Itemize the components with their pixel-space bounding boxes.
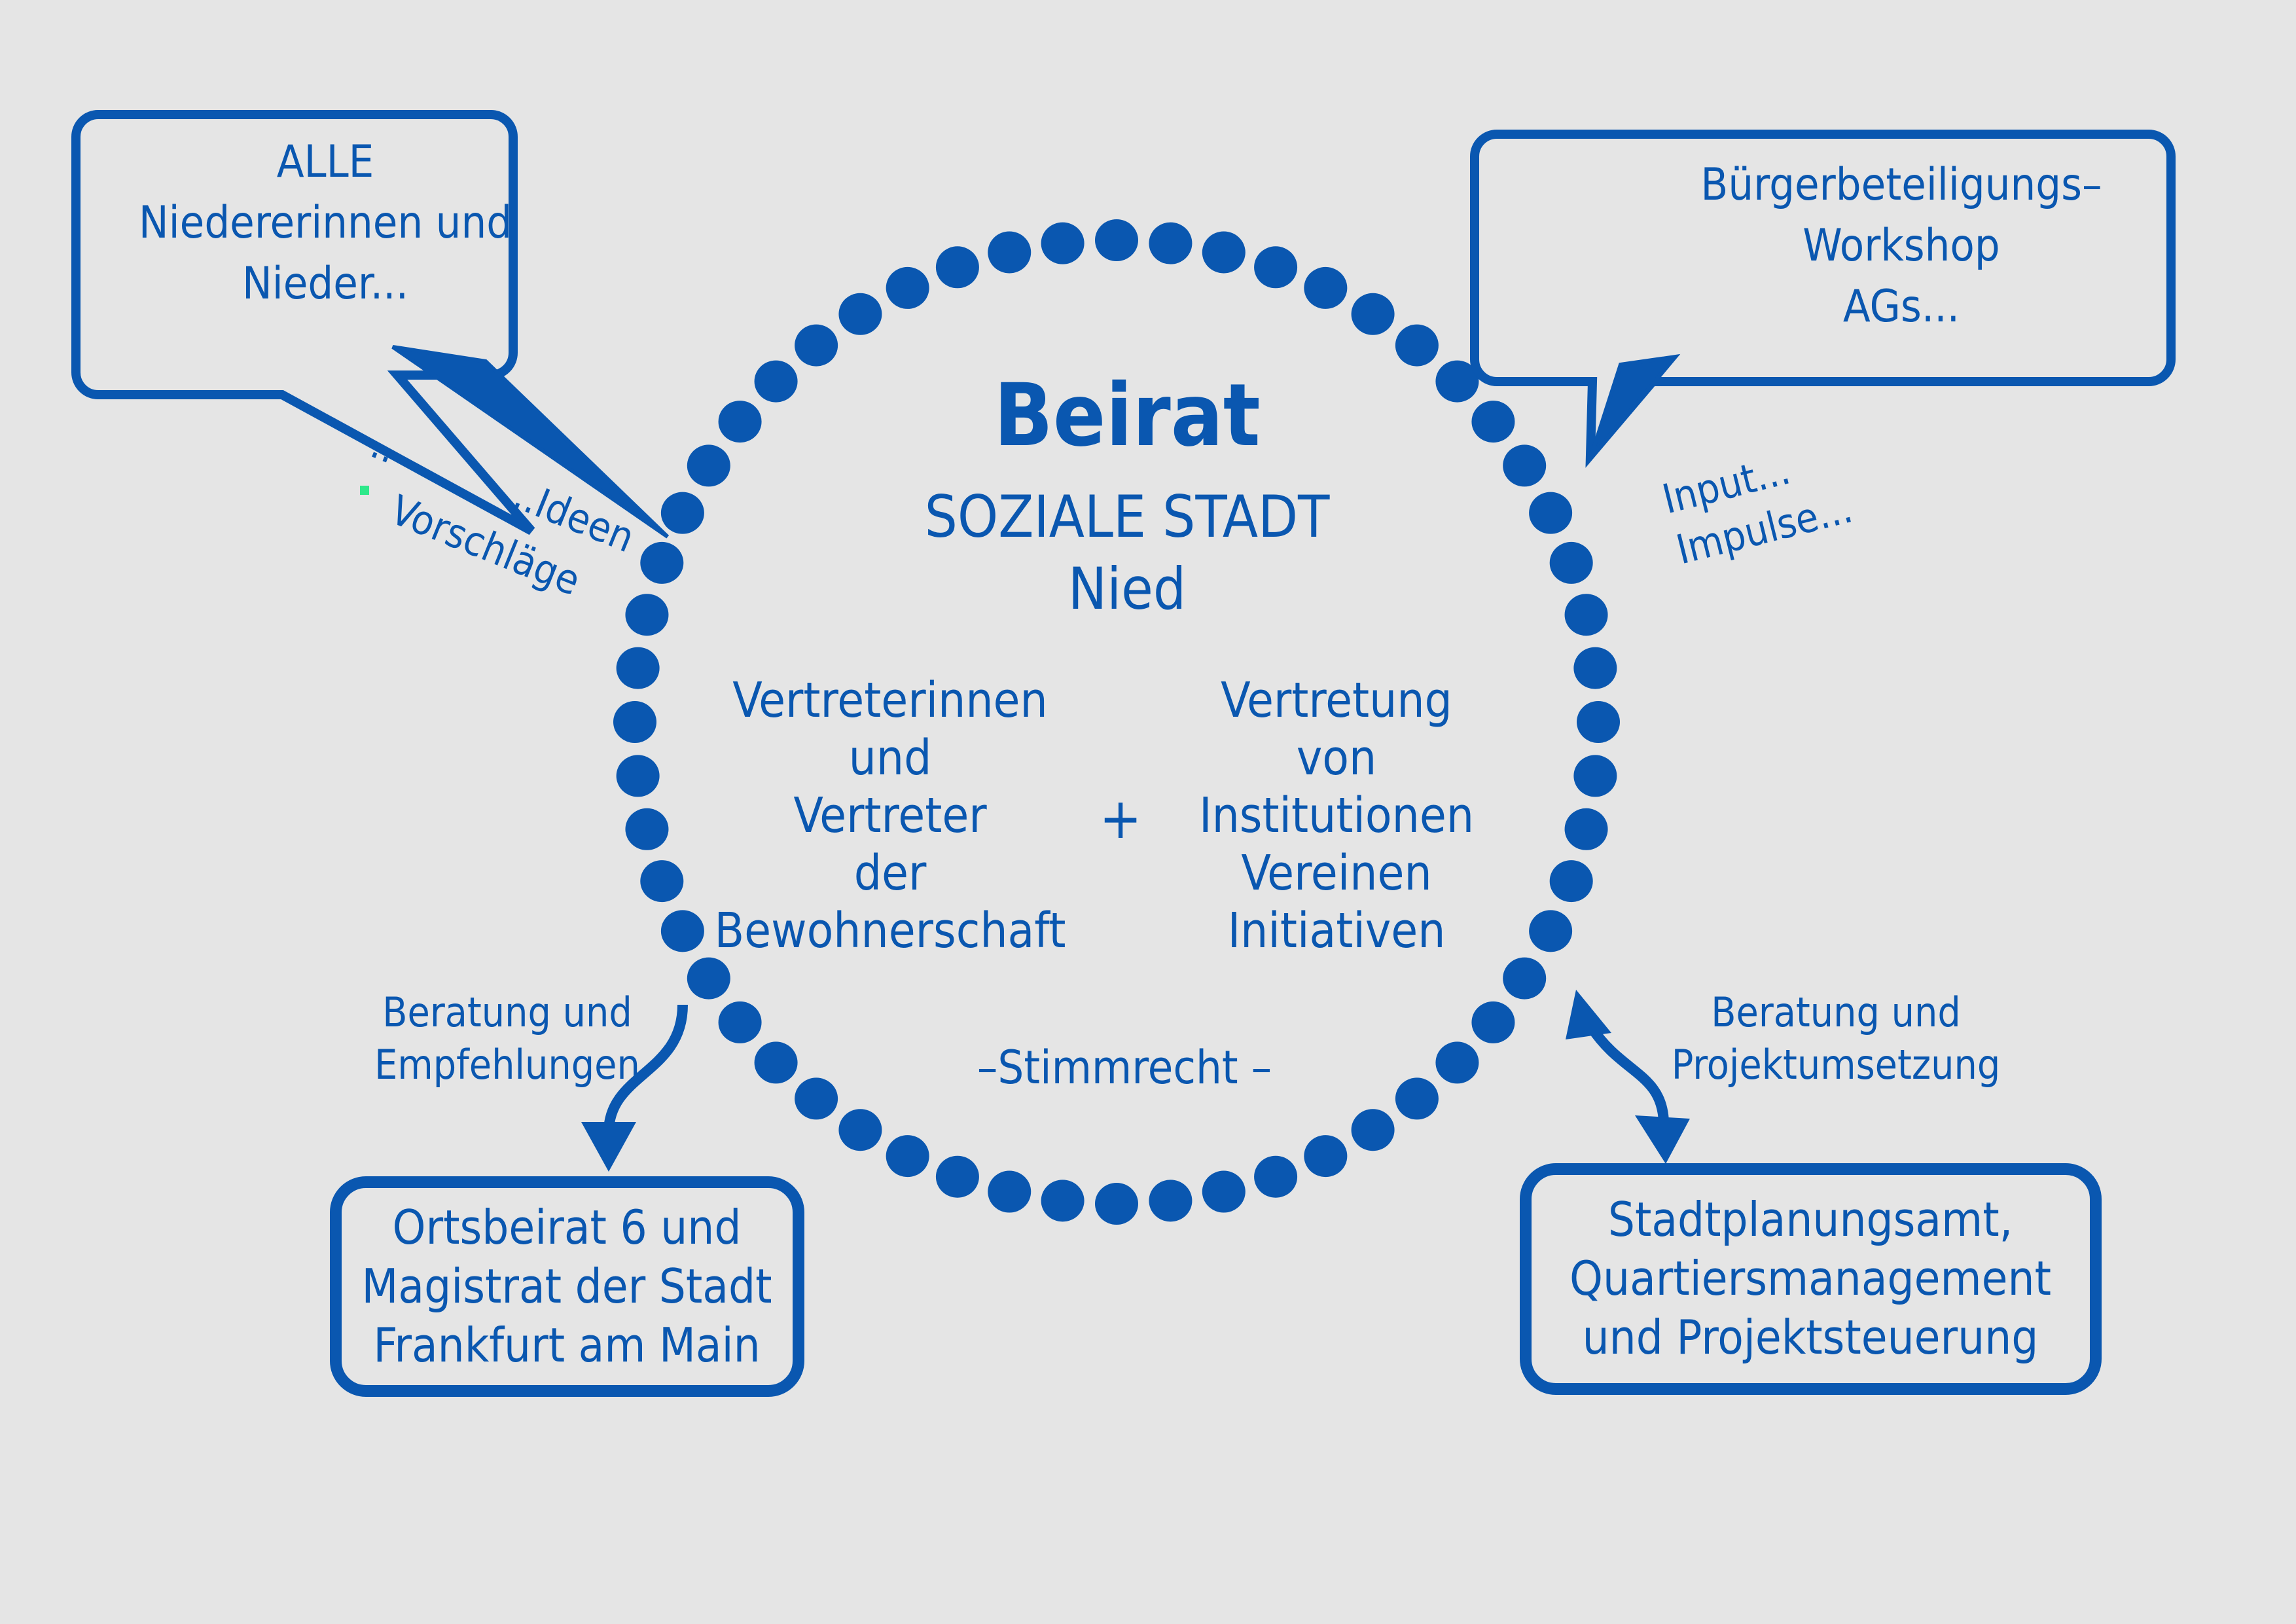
ring-dot <box>1395 325 1439 367</box>
ring-dot <box>1254 1156 1297 1198</box>
ring-dot <box>1095 219 1138 261</box>
left-col-line1: Vertreterinnen <box>732 672 1047 729</box>
ring-dot <box>936 1156 979 1198</box>
flow-label-input-group: Input... Impulse... <box>1658 433 1857 574</box>
box-ortsbeirat-line2: Magistrat der Stadt <box>361 1259 772 1314</box>
speech-bubble-top-right[interactable]: Bürgerbeteiligungs– Workshop AGs... <box>1475 134 2171 455</box>
left-col-line2: und <box>849 730 932 786</box>
center-subheading: SOZIALE STADT <box>925 483 1330 550</box>
ring-dot <box>687 444 730 486</box>
arrowhead-down-right <box>1635 1115 1690 1164</box>
center-subheading2: Nied <box>1068 555 1186 623</box>
ring-dot <box>613 701 656 743</box>
center-titles: Beirat SOZIALE STADT Nied <box>925 365 1330 623</box>
flow-label-right-bottom: Beratung und Projektumsetzung <box>1672 988 2001 1089</box>
box-ortsbeirat-line3: Frankfurt am Main <box>373 1318 760 1373</box>
label-beratung-projekt-line2: Projektumsetzung <box>1672 1041 2001 1089</box>
ring-dot <box>640 542 683 584</box>
bubble-tr-line1: Bürgerbeteiligungs– <box>1700 159 2102 211</box>
label-beratung-empfehlungen-line1: Beratung und <box>382 988 632 1036</box>
ring-dot <box>1095 1183 1138 1225</box>
ring-dot <box>1149 1180 1192 1221</box>
ring-dot <box>1304 1135 1347 1177</box>
ring-dot <box>1041 223 1085 264</box>
ring-dot <box>936 246 979 288</box>
ring-dot <box>640 860 683 902</box>
ring-dot <box>838 1109 882 1151</box>
bubble-tl-line3: Nieder... <box>242 258 408 310</box>
stimmrecht-note: –Stimmrecht – <box>977 1041 1272 1094</box>
ring-dot <box>1041 1180 1085 1221</box>
left-col-line3: Vertreter <box>793 787 987 844</box>
diagram-canvas: ALLE Niedererinnen und Nieder... Bürgerb… <box>0 0 2296 1624</box>
right-col-line5: Initiativen <box>1228 903 1446 959</box>
ring-dot <box>1202 1171 1246 1213</box>
ring-dot <box>661 910 704 952</box>
ring-dot <box>1565 594 1608 636</box>
flow-label-left-bottom: Beratung und Empfehlungen <box>374 988 640 1089</box>
ring-dot <box>617 755 660 797</box>
ring-dot <box>1352 1109 1395 1151</box>
left-col-line4: der <box>854 845 927 901</box>
box-stadtplanungsamt-line3: und Projektsteuerung <box>1583 1310 2039 1365</box>
ring-dot <box>1352 293 1395 335</box>
green-pixel-artifact <box>360 486 369 495</box>
ring-dot <box>1503 444 1546 486</box>
ring-dot <box>1577 701 1620 743</box>
label-beratung-empfehlungen-line2: Empfehlungen <box>374 1041 640 1089</box>
label-beratung-projekt-line1: Beratung und <box>1711 988 1961 1036</box>
arrowhead-down-left <box>581 1122 636 1172</box>
beirat-diagram: ALLE Niedererinnen und Nieder... Bürgerb… <box>0 0 2296 1624</box>
ring-dot <box>1529 910 1572 952</box>
plus-operator: + <box>1100 786 1142 852</box>
ring-dot <box>1550 542 1593 584</box>
ring-dot <box>1573 755 1617 797</box>
ring-dot <box>1565 808 1608 850</box>
ring-dot <box>1529 492 1572 534</box>
right-col-line4: Vereinen <box>1241 845 1431 901</box>
right-col-line2: von <box>1297 730 1376 786</box>
box-stadtplanungsamt-line1: Stadtplanungsamt, <box>1608 1192 2013 1247</box>
ring-dot <box>755 1041 798 1083</box>
center-heading: Beirat <box>994 365 1260 466</box>
ring-dot <box>1254 246 1297 288</box>
ring-dot <box>625 594 668 636</box>
bubble-tl-line1: ALLE <box>277 136 374 188</box>
ring-dot <box>886 267 929 309</box>
ring-dot <box>1573 647 1617 689</box>
bubble-tr-line2: Workshop <box>1803 220 2000 272</box>
center-right-column: Vertretung von Institutionen Vereinen In… <box>1199 672 1474 959</box>
ring-dot <box>687 958 730 1000</box>
pointer-tail-right <box>1590 357 1676 458</box>
ring-dot <box>1503 958 1546 1000</box>
ring-dot <box>795 1077 838 1119</box>
ring-dot <box>795 325 838 367</box>
box-ortsbeirat-line1: Ortsbeirat 6 und <box>392 1200 741 1255</box>
ring-dot <box>1202 231 1246 273</box>
ring-dot <box>988 1171 1031 1213</box>
ring-dot <box>1395 1077 1439 1119</box>
flow-label-ideen-group: ...Ideen Vorschläge .. <box>344 414 641 617</box>
bubble-tr-line3: AGs... <box>1843 281 1960 333</box>
left-col-line5: Bewohnerschaft <box>714 903 1066 959</box>
ring-dot <box>838 293 882 335</box>
speech-bubble-top-left[interactable]: ALLE Niedererinnen und Nieder... <box>76 115 531 531</box>
ring-dot <box>719 1001 762 1043</box>
arrowhead-up-right <box>1566 990 1611 1039</box>
center-left-column: Vertreterinnen und Vertreter der Bewohne… <box>714 672 1066 959</box>
ring-dot <box>1471 401 1515 442</box>
ring-dot <box>1471 1001 1515 1043</box>
ring-dot <box>617 647 660 689</box>
ring-dot <box>719 401 762 442</box>
ring-dot <box>755 361 798 403</box>
ring-dot <box>1304 267 1347 309</box>
box-ortsbeirat[interactable]: Ortsbeirat 6 und Magistrat der Stadt Fra… <box>336 1182 798 1391</box>
ring-dot <box>1149 223 1192 264</box>
ring-dot <box>1435 1041 1479 1083</box>
ring-dot <box>625 808 668 850</box>
ring-dot <box>988 231 1031 273</box>
box-stadtplanungsamt-line2: Quartiersmanagement <box>1570 1251 2051 1306</box>
ring-dot <box>661 492 704 534</box>
bubble-tl-line2: Niedererinnen und <box>139 197 512 249</box>
box-stadtplanungsamt[interactable]: Stadtplanungsamt, Quartiersmanagement un… <box>1526 1169 2096 1389</box>
ring-dot <box>886 1135 929 1177</box>
right-col-line3: Institutionen <box>1199 787 1474 844</box>
ring-dot <box>1550 860 1593 902</box>
right-col-line1: Vertretung <box>1221 672 1452 729</box>
